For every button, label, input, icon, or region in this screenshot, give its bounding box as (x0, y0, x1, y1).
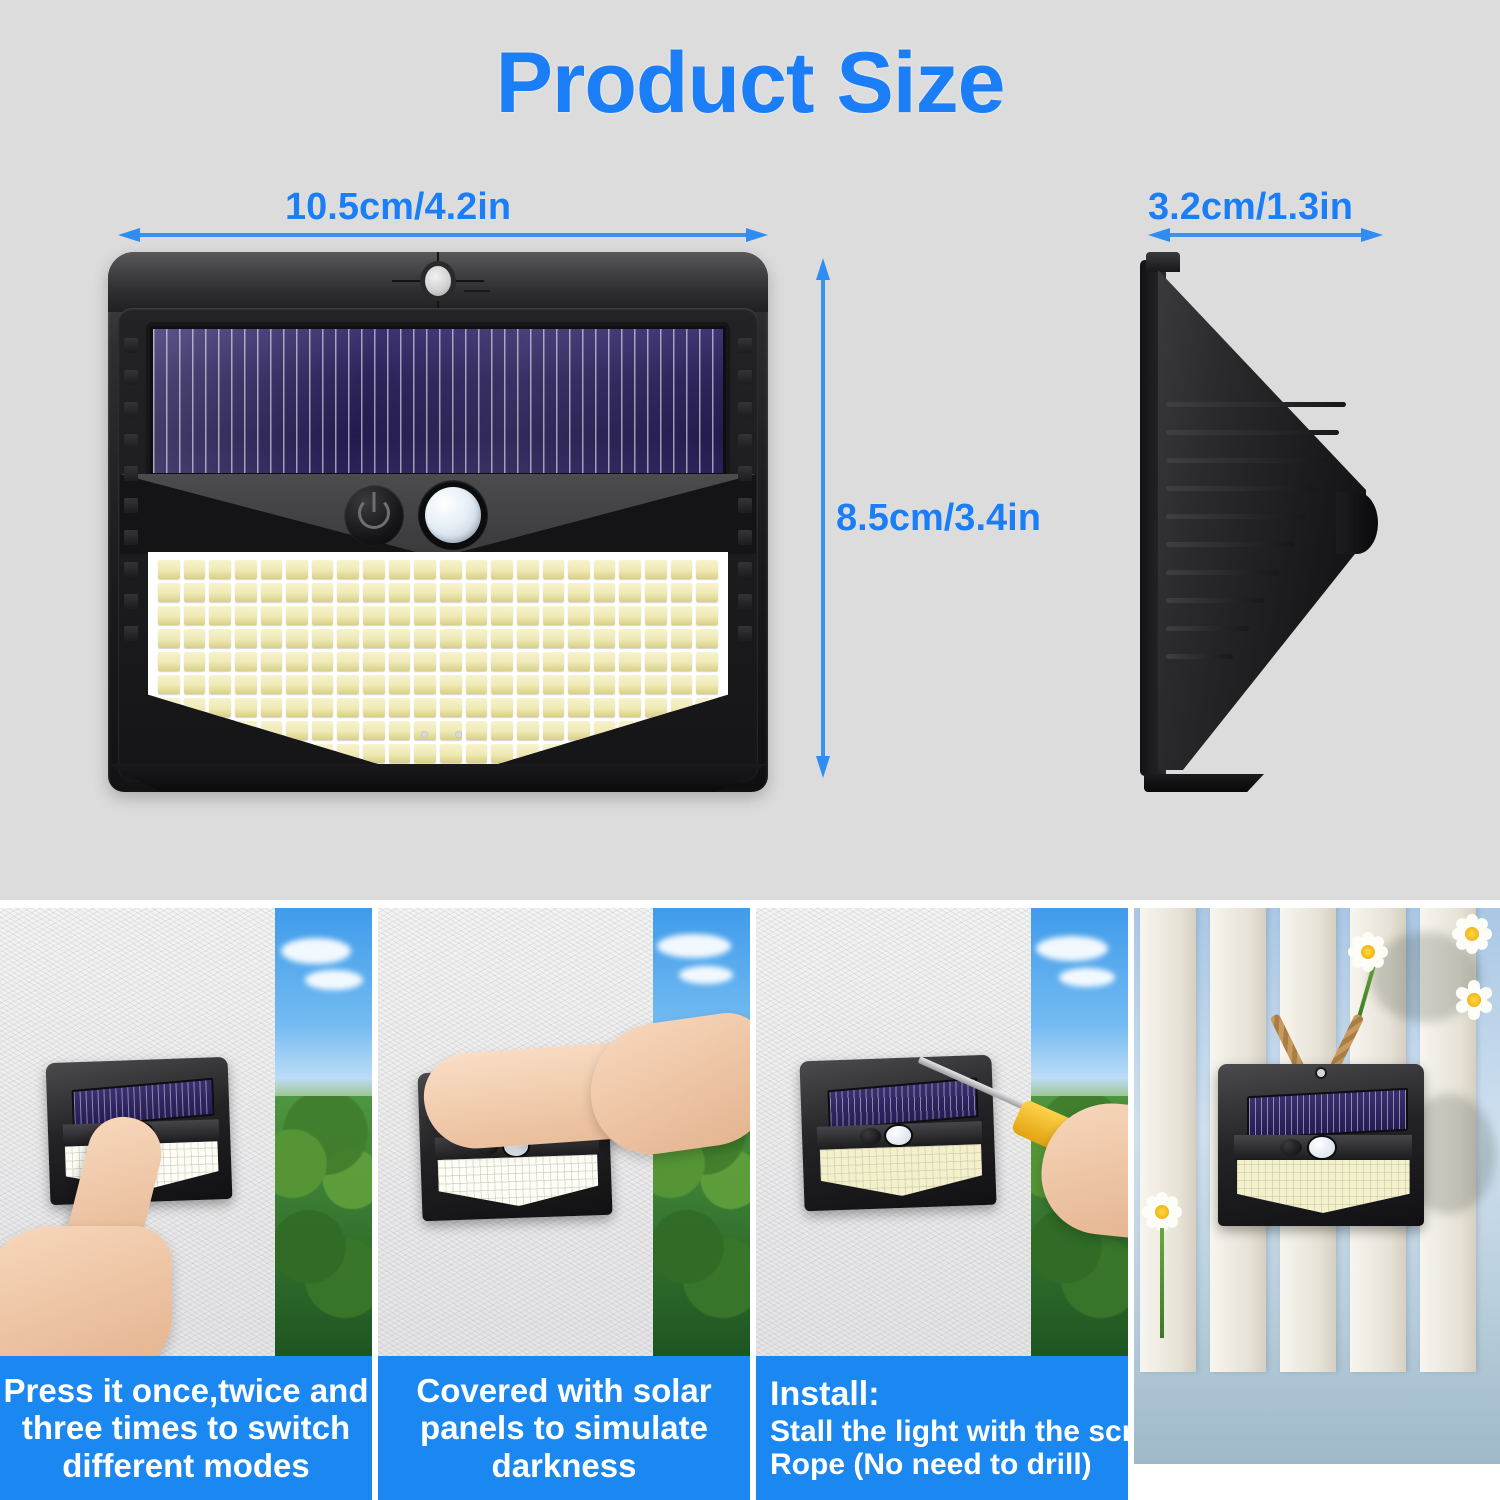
led-chip (671, 652, 693, 671)
led-chip (389, 698, 411, 717)
panel-install: Install: Stall the light with the screws… (756, 908, 1128, 1500)
led-chip (619, 698, 641, 717)
side-led-column-left (124, 338, 138, 708)
led-chip (466, 652, 488, 671)
mounting-hole-icon (425, 266, 451, 296)
led-chip (209, 560, 231, 579)
led-chip (491, 629, 513, 648)
led-chip (312, 721, 334, 740)
led-chip (209, 583, 231, 602)
caption-line: Stall the light with the screws(In clude… (770, 1415, 1128, 1449)
led-chip (312, 606, 334, 625)
led-chip (209, 652, 231, 671)
led-chip (466, 583, 488, 602)
led-chip (543, 583, 565, 602)
led-chip (466, 744, 488, 763)
led-chip (389, 652, 411, 671)
led-chip (466, 560, 488, 579)
led-chip (312, 560, 334, 579)
led-chip (543, 652, 565, 671)
led-chip (671, 629, 693, 648)
led-chip (517, 675, 539, 694)
led-chip (286, 629, 308, 648)
led-chip (568, 721, 590, 740)
led-chip (671, 583, 693, 602)
led-chip (645, 606, 667, 625)
led-chip (337, 675, 359, 694)
led-chip (363, 583, 385, 602)
led-chip (594, 629, 616, 648)
led-chip (312, 698, 334, 717)
led-chip (337, 652, 359, 671)
caption-line: panels to simulate (420, 1409, 708, 1446)
page-title: Product Size (0, 34, 1500, 133)
led-chip (568, 698, 590, 717)
led-chip (543, 560, 565, 579)
led-chip (696, 652, 718, 671)
led-chip (414, 583, 436, 602)
led-chip (389, 560, 411, 579)
led-chip (619, 560, 641, 579)
led-chip (696, 606, 718, 625)
led-chip (158, 675, 180, 694)
panel-press-button-scene (0, 908, 372, 1356)
side-top-nub (1146, 252, 1180, 272)
led-chip (543, 698, 565, 717)
depth-dimension-arrow (1148, 228, 1383, 242)
led-chip (261, 560, 283, 579)
side-led-column-right (738, 338, 752, 708)
led-chip (158, 560, 180, 579)
panel-install-caption: Install: Stall the light with the screws… (756, 1356, 1128, 1500)
led-chip (235, 675, 257, 694)
panel-press-button: Press it once,twice and three times to s… (0, 908, 372, 1500)
led-chip (491, 698, 513, 717)
lamp-bottom-lip (108, 764, 768, 792)
led-chip (491, 606, 513, 625)
led-chip (261, 675, 283, 694)
led-panel-screw-left (421, 731, 428, 738)
mount-tick-line (464, 290, 490, 292)
led-chip (440, 583, 462, 602)
led-chip (696, 560, 718, 579)
caption-title: Install: (770, 1374, 880, 1415)
led-chip (491, 675, 513, 694)
led-chip (517, 629, 539, 648)
led-chip (158, 583, 180, 602)
led-chip (235, 583, 257, 602)
caption-line: three times to switch (22, 1409, 350, 1446)
led-chip (312, 652, 334, 671)
led-chip (363, 744, 385, 763)
led-chip (440, 560, 462, 579)
led-chip (363, 675, 385, 694)
led-chip (184, 583, 206, 602)
led-chip (286, 652, 308, 671)
panel-install-scene (756, 908, 1128, 1356)
side-rib-lines (1166, 402, 1346, 732)
panel-cover-solar-caption: Covered with solar panels to simulate da… (378, 1356, 750, 1500)
led-chip (491, 560, 513, 579)
led-chip (312, 675, 334, 694)
led-chip (261, 698, 283, 717)
led-chip (389, 629, 411, 648)
product-side-view (1140, 252, 1390, 792)
panel-rope-fence (1134, 908, 1500, 1500)
led-chip (466, 675, 488, 694)
led-chip (312, 583, 334, 602)
led-chip (158, 606, 180, 625)
led-chip (466, 629, 488, 648)
led-chip (414, 629, 436, 648)
led-chip (466, 606, 488, 625)
caption-line: darkness (492, 1447, 637, 1484)
led-chip (543, 675, 565, 694)
led-chip (184, 652, 206, 671)
led-chip (543, 721, 565, 740)
led-chip (337, 583, 359, 602)
led-chip (594, 698, 616, 717)
panel-rope-fence-scene (1134, 908, 1500, 1464)
power-button-icon (344, 484, 404, 546)
led-chip (158, 652, 180, 671)
led-chip (363, 652, 385, 671)
led-chip (261, 652, 283, 671)
led-chip (158, 629, 180, 648)
led-chip (286, 698, 308, 717)
led-chip (389, 744, 411, 763)
led-chip (363, 629, 385, 648)
width-dimension-label: 10.5cm/4.2in (285, 186, 511, 229)
led-chip (645, 652, 667, 671)
led-chip (594, 606, 616, 625)
led-chip (594, 560, 616, 579)
solar-panel-glare (153, 329, 723, 473)
led-chip (184, 629, 206, 648)
led-chip (209, 675, 231, 694)
led-chip (337, 560, 359, 579)
led-chip (619, 583, 641, 602)
panel-cover-solar-scene (378, 908, 750, 1356)
led-chip (235, 652, 257, 671)
led-chip (517, 721, 539, 740)
led-chip (414, 698, 436, 717)
side-bottom-foot (1144, 774, 1264, 792)
led-chip (517, 652, 539, 671)
daisy-flower (1450, 912, 1494, 956)
led-chip (491, 744, 513, 763)
height-dimension-label: 8.5cm/3.4in (836, 497, 1041, 540)
led-chip (363, 606, 385, 625)
led-chip (286, 721, 308, 740)
led-chip (440, 652, 462, 671)
led-chip (261, 583, 283, 602)
led-chip (389, 606, 411, 625)
led-chip (440, 629, 462, 648)
led-chip (337, 629, 359, 648)
led-chip (337, 721, 359, 740)
led-chip (440, 675, 462, 694)
led-chip (389, 583, 411, 602)
led-chip (235, 629, 257, 648)
caption-line: Rope (No need to drill) (770, 1448, 1092, 1482)
led-chip (619, 652, 641, 671)
led-chip (235, 698, 257, 717)
led-chip (594, 675, 616, 694)
led-chip (491, 652, 513, 671)
led-chip (619, 675, 641, 694)
caption-line: Covered with solar (416, 1372, 711, 1409)
led-chip (209, 629, 231, 648)
led-chip (517, 698, 539, 717)
led-chip (414, 606, 436, 625)
height-dimension-arrow (816, 258, 830, 778)
led-chip (645, 583, 667, 602)
led-chip (568, 629, 590, 648)
led-chip (568, 560, 590, 579)
led-chip (543, 629, 565, 648)
led-chip (696, 675, 718, 694)
outdoor-strip (275, 908, 372, 1356)
caption-line: Press it once,twice and (4, 1372, 369, 1409)
led-chip (568, 675, 590, 694)
led-chip (261, 606, 283, 625)
led-chip (414, 675, 436, 694)
daisy-flower (1452, 978, 1496, 1022)
led-chip (209, 606, 231, 625)
led-chip (312, 629, 334, 648)
led-chip (414, 560, 436, 579)
led-chip (184, 606, 206, 625)
led-chip (389, 721, 411, 740)
led-chip (645, 675, 667, 694)
led-chip (235, 606, 257, 625)
product-front-view (108, 252, 768, 792)
led-chip (671, 606, 693, 625)
led-chip (363, 560, 385, 579)
led-chip (440, 744, 462, 763)
led-chip (517, 583, 539, 602)
mini-lamp-illustration (1218, 1064, 1424, 1226)
led-chip (286, 583, 308, 602)
panel-press-button-caption: Press it once,twice and three times to s… (0, 1356, 372, 1500)
led-chip (568, 652, 590, 671)
led-chip (440, 698, 462, 717)
hand-palm (0, 1226, 172, 1356)
led-chip (568, 583, 590, 602)
led-chip (414, 744, 436, 763)
led-chip (440, 606, 462, 625)
product-size-section: Product Size 10.5cm/4.2in 3.2cm/1.3in 8.… (0, 0, 1500, 900)
led-chip (261, 629, 283, 648)
led-chip (645, 560, 667, 579)
led-chip (286, 675, 308, 694)
usage-photo-grid: Press it once,twice and three times to s… (0, 908, 1500, 1500)
led-chip (337, 606, 359, 625)
led-chip (235, 560, 257, 579)
led-chip (619, 606, 641, 625)
led-chip (466, 698, 488, 717)
depth-dimension-label: 3.2cm/1.3in (1148, 186, 1353, 229)
led-chip (184, 560, 206, 579)
fence-picket (1140, 908, 1196, 1372)
led-chip (568, 606, 590, 625)
led-chip (414, 652, 436, 671)
led-chip (389, 675, 411, 694)
led-chip (286, 560, 308, 579)
daisy-flower (1346, 930, 1390, 974)
width-dimension-arrow (118, 228, 768, 242)
led-chip (363, 721, 385, 740)
led-chip (619, 629, 641, 648)
led-chip (594, 583, 616, 602)
led-chip (491, 583, 513, 602)
panel-cover-solar: Covered with solar panels to simulate da… (378, 908, 750, 1500)
led-chip (543, 606, 565, 625)
led-chip (491, 721, 513, 740)
led-chip (645, 629, 667, 648)
led-chip (517, 560, 539, 579)
led-chip (363, 698, 385, 717)
led-chip (184, 675, 206, 694)
solar-panel (150, 326, 726, 476)
led-chip (594, 652, 616, 671)
led-chip (671, 560, 693, 579)
led-chip (517, 606, 539, 625)
led-chip (337, 698, 359, 717)
motion-sensor-icon (418, 480, 488, 550)
led-chip (286, 606, 308, 625)
led-chip (671, 675, 693, 694)
caption-line: different modes (62, 1447, 310, 1484)
led-chip (466, 721, 488, 740)
flower-stem (1160, 1228, 1164, 1338)
led-chip (696, 629, 718, 648)
led-chip (696, 583, 718, 602)
